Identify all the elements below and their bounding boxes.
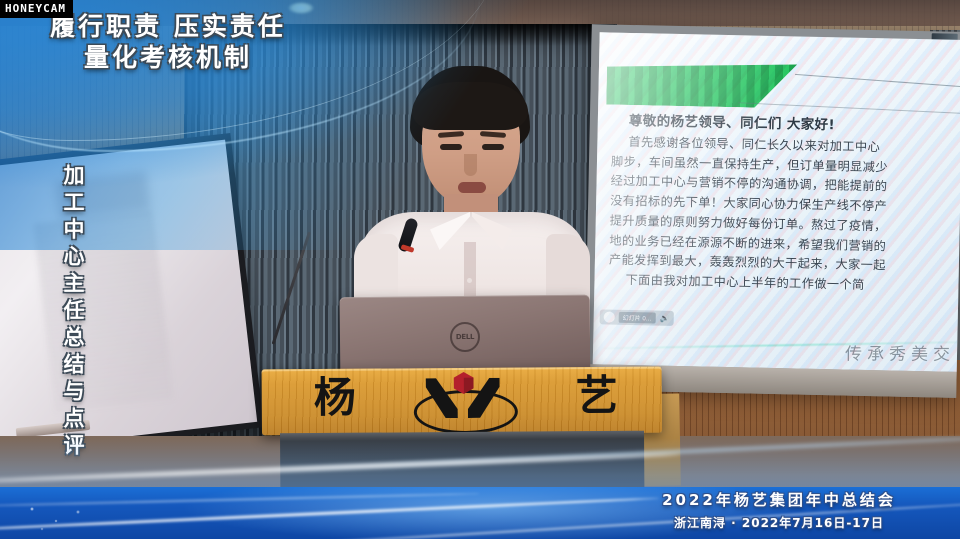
speaker-shirt-button [467, 278, 472, 283]
podium-front-panel: 杨 艺 [262, 367, 662, 436]
projection-screen-surface: 尊敬的杨艺领导、同仁们 大家好! 首先感谢各位领导、同仁长久以来对加工中心 脚步… [593, 32, 960, 372]
event-title: 2022年杨艺集团年中总结会 [614, 489, 944, 510]
overlay-title-line-2: 量化考核机制 [18, 43, 318, 74]
screen-glare [593, 32, 819, 372]
podium-char-left: 杨 [314, 377, 356, 419]
podium-char-right: 艺 [576, 375, 618, 417]
dell-logo: DELL [450, 322, 480, 352]
honeycam-watermark: HONEYCAM [0, 0, 73, 18]
event-caption: 2022年杨艺集团年中总结会 浙江南浔 · 2022年7月16日-17日 [614, 489, 944, 531]
video-frame: 尊敬的杨艺领导、同仁们 大家好! 首先感谢各位领导、同仁长久以来对加工中心 脚步… [0, 0, 960, 539]
yangyi-logo [408, 372, 518, 431]
projection-screen: 尊敬的杨艺领导、同仁们 大家好! 首先感谢各位领导、同仁长久以来对加工中心 脚步… [584, 24, 960, 398]
logo-ellipse [414, 390, 518, 435]
overlay-title: 履行职责 压实责任 量化考核机制 [18, 12, 318, 73]
band-sparkles [22, 503, 92, 535]
vertical-caption: 加工中心主任总结与点评 [62, 164, 83, 461]
event-subtitle: 浙江南浔 · 2022年7月16日-17日 [614, 514, 944, 531]
